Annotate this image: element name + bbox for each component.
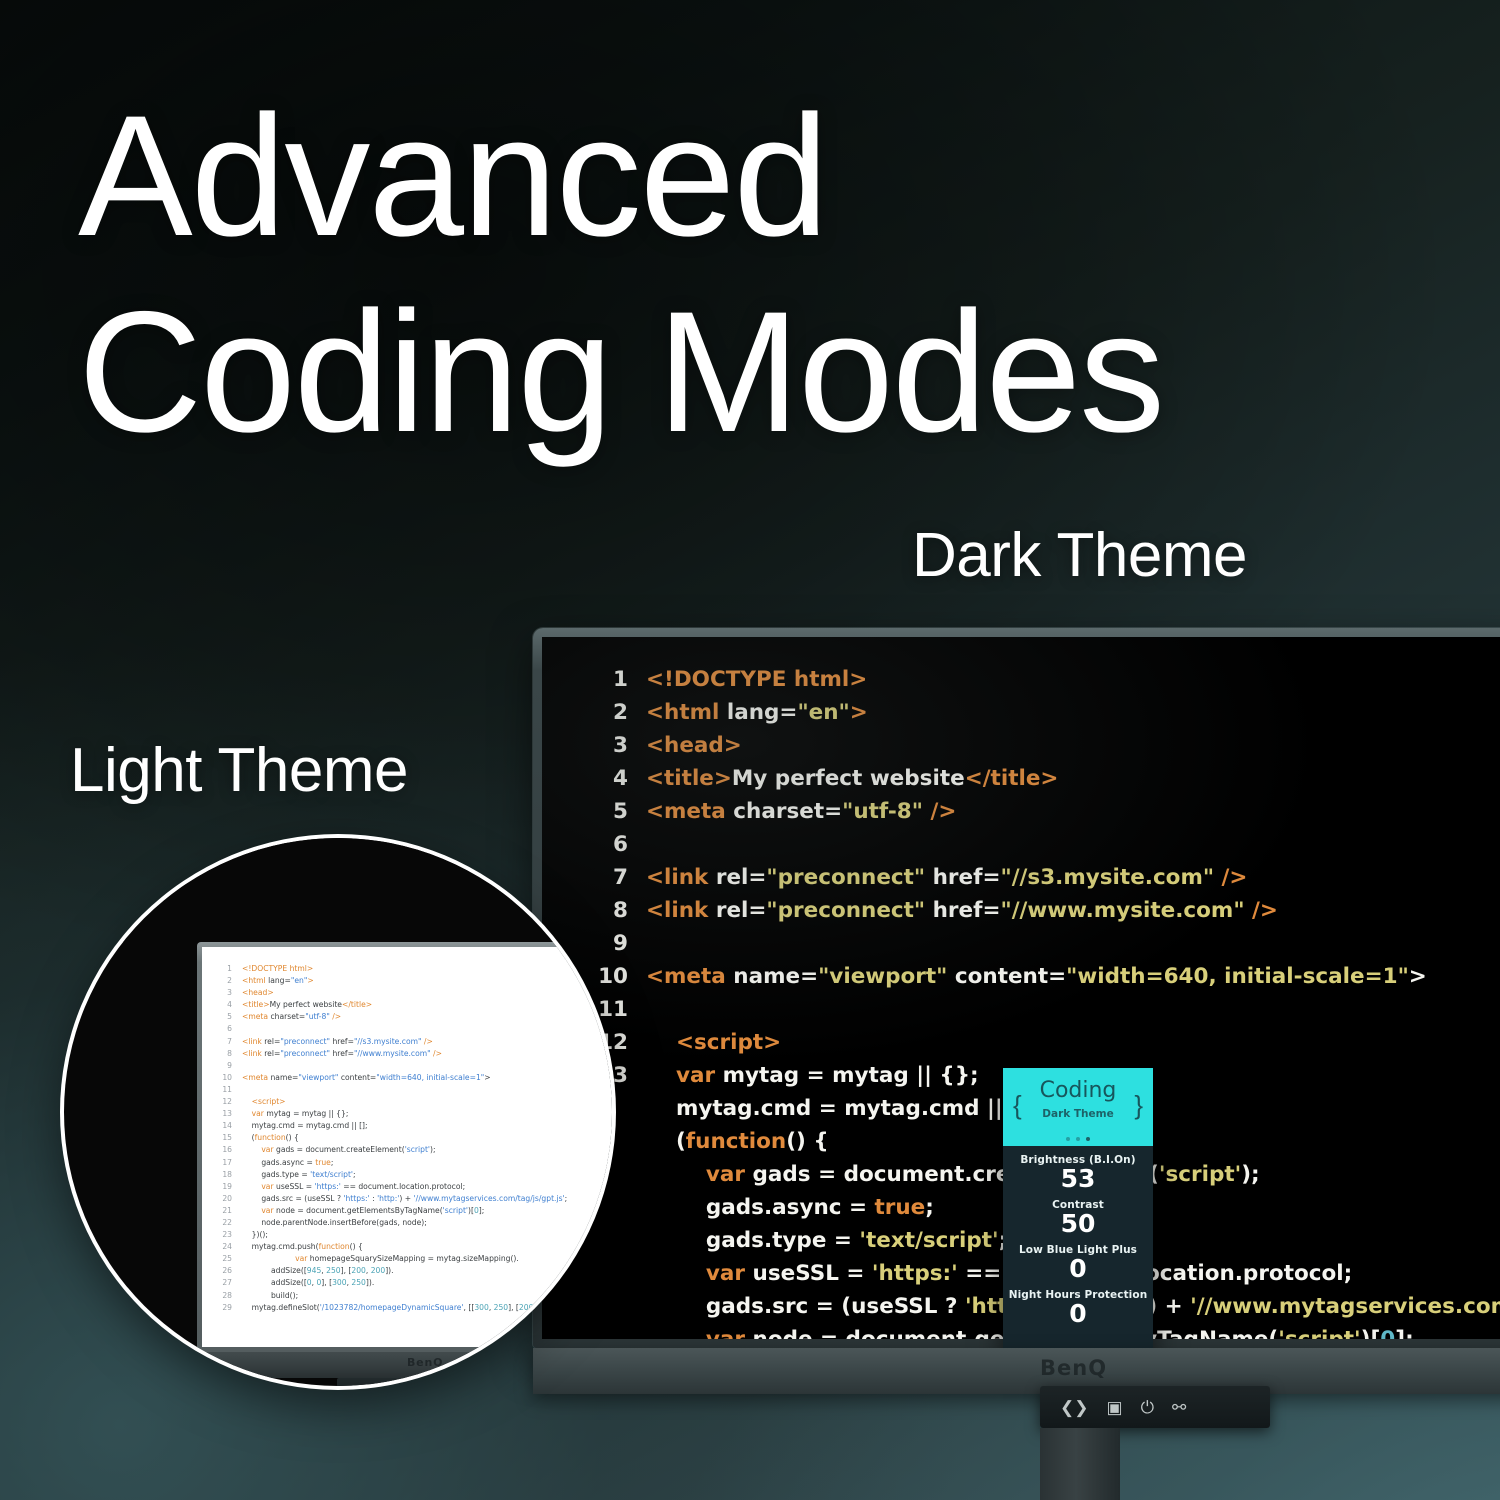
code-token: <script>: [676, 1030, 781, 1055]
code-line: 10<meta name="viewport" content="width=6…: [594, 960, 1500, 993]
code-token: "preconnect": [766, 865, 925, 890]
code-token: 'https:': [343, 1194, 369, 1203]
code-token: href=: [330, 1037, 354, 1046]
line-number: 25: [216, 1253, 232, 1265]
line-number: 16: [216, 1144, 232, 1156]
code-token: var: [261, 1206, 276, 1215]
code-token: , [[: [464, 1303, 475, 1312]
code-token: "//s3.mysite.com": [354, 1037, 422, 1046]
code-line: 18 gads.type = 'text/script';: [216, 1169, 612, 1181]
code-token: "viewport": [298, 1073, 338, 1082]
code-token: var: [676, 1063, 723, 1088]
code-token: <title>: [646, 766, 732, 791]
code-line: 10<meta name="viewport" content="width=6…: [216, 1072, 612, 1084]
line-number: 6: [216, 1023, 232, 1035]
brand-logo-light: BenQ: [407, 1356, 443, 1369]
code-token: "en": [797, 700, 849, 725]
code-token: "preconnect": [280, 1037, 330, 1046]
code-token: 300: [474, 1303, 489, 1312]
code-token: var: [706, 1327, 753, 1339]
code-token: gads.src = (useSSL ?: [706, 1294, 965, 1319]
code-token: rel=: [716, 865, 767, 890]
code-line: 3<head>: [216, 987, 612, 999]
code-token: :: [370, 1194, 377, 1203]
code-token: "preconnect": [766, 898, 925, 923]
line-number: 19: [216, 1181, 232, 1193]
code-token: addSize([: [271, 1266, 307, 1275]
code-token: function: [255, 1133, 286, 1142]
line-number: 28: [216, 1290, 232, 1302]
code-token: rel=: [264, 1037, 280, 1046]
code-token: charset=: [733, 799, 842, 824]
line-number: 12: [216, 1096, 232, 1108]
line-number: 3: [216, 987, 232, 999]
code-token: />: [1245, 898, 1278, 923]
code-token: () {: [286, 1133, 299, 1142]
code-token: '//www.mytagservices.com/tag/js/gpt.js': [1190, 1294, 1500, 1319]
monitor-screen-light: 1<!DOCTYPE html>2<html lang="en">3<head>…: [202, 947, 612, 1347]
code-token: 200: [351, 1266, 366, 1275]
code-token: 'script': [405, 1145, 430, 1154]
line-number: 15: [216, 1132, 232, 1144]
code-token: My perfect website: [270, 1000, 342, 1009]
line-number: 18: [216, 1169, 232, 1181]
line-number: 1: [594, 663, 628, 696]
code-line: 2<html lang="en">: [216, 975, 612, 987]
line-number: 7: [216, 1036, 232, 1048]
code-token: )[: [1361, 1327, 1381, 1339]
dark-theme-label: Dark Theme: [912, 520, 1247, 591]
code-line: 5<meta charset="utf-8" />: [216, 1011, 612, 1023]
code-token: />: [431, 1049, 442, 1058]
code-line: 22 node.parentNode.insertBefore(gads, no…: [216, 1217, 612, 1229]
line-number: 24: [216, 1241, 232, 1253]
code-token: () {: [786, 1129, 828, 1154]
code-token: <html: [242, 976, 268, 985]
code-token: var: [706, 1261, 753, 1286]
code-token: 200: [371, 1266, 386, 1275]
monitor-chin-dark: [533, 1348, 1500, 1394]
power-icon[interactable]: ⏻: [1141, 1399, 1154, 1416]
code-token: mytag.defineSlot(: [252, 1303, 320, 1312]
code-token: var: [295, 1254, 310, 1263]
code-token: 200: [538, 1303, 553, 1312]
code-token: var: [706, 1162, 753, 1187]
osd-title: Coding: [1003, 1078, 1153, 1103]
code-token: charset=: [270, 1012, 305, 1021]
code-token: );: [430, 1145, 436, 1154]
code-line: 16 var gads = document.createElement('sc…: [216, 1144, 612, 1156]
code-line: 9: [594, 927, 1500, 960]
line-number: 14: [216, 1120, 232, 1132]
light-theme-label: Light Theme: [70, 735, 408, 806]
code-token: ;: [353, 1170, 356, 1179]
light-theme-monitor: 1<!DOCTYPE html>2<html lang="en">3<head>…: [197, 942, 612, 1352]
osd-setting-value: 53: [1003, 1166, 1153, 1192]
code-token: <head>: [242, 988, 274, 997]
code-token: 945: [307, 1266, 322, 1275]
code-token: function: [319, 1242, 350, 1251]
code-token: build();: [271, 1291, 298, 1300]
code-token: rel=: [716, 898, 767, 923]
code-line: 28 build();: [216, 1290, 612, 1302]
line-number: 11: [216, 1084, 232, 1096]
osd-setting-value: 0: [1003, 1256, 1153, 1282]
code-line: 11: [216, 1084, 612, 1096]
code-token: />: [923, 799, 956, 824]
code-token: <html: [646, 700, 727, 725]
code-token: ];: [479, 1206, 485, 1215]
magnifier-circle: 1<!DOCTYPE html>2<html lang="en">3<head>…: [64, 838, 612, 1386]
code-token: <!DOCTYPE html>: [242, 964, 313, 973]
code-token: useSSL =: [276, 1182, 315, 1191]
code-token: ];: [1395, 1327, 1413, 1339]
code-token: ) +: [399, 1194, 413, 1203]
code-line: 8<link rel="preconnect" href="//www.mysi…: [216, 1048, 612, 1060]
code-token: ], [: [321, 1278, 332, 1287]
display-icon[interactable]: ▣: [1107, 1399, 1123, 1416]
code-token: "width=640, initial-scale=1": [376, 1073, 484, 1082]
code-token: useSSL =: [753, 1261, 872, 1286]
code-token: 'script': [443, 1206, 468, 1215]
code-token: name=: [733, 964, 818, 989]
code-line: 25 var homepageSquarySizeMapping = mytag…: [216, 1253, 612, 1265]
code-token: gads.type =: [261, 1170, 310, 1179]
code-token: "//www.mysite.com": [1001, 898, 1245, 923]
user-icon[interactable]: ⚯: [1172, 1399, 1186, 1416]
code-token: lang=: [268, 976, 291, 985]
code-token: true: [315, 1158, 331, 1167]
control-bar-dark[interactable]: ❮❯ ▣ ⏻ ⚯: [1040, 1386, 1270, 1428]
code-token: () {: [350, 1242, 363, 1251]
code-line: 8<link rel="preconnect" href="//www.mysi…: [594, 894, 1500, 927]
code-line: 7<link rel="preconnect" href="//s3.mysit…: [594, 861, 1500, 894]
code-token: "//www.mysite.com": [354, 1049, 431, 1058]
line-number: 27: [216, 1277, 232, 1289]
brand-logo-dark: BenQ: [1040, 1356, 1107, 1380]
code-token: '//www.mytagservices.com/tag/js/gpt.js': [414, 1194, 565, 1203]
code-line: 26 addSize([945, 250], [200, 200]).: [216, 1265, 612, 1277]
code-token: 250: [494, 1303, 509, 1312]
code-line: 27 addSize([0, 0], [300, 250]).: [216, 1277, 612, 1289]
code-token: "preconnect": [280, 1049, 330, 1058]
osd-page-dots[interactable]: [1003, 1128, 1153, 1146]
code-token: />: [330, 1012, 341, 1021]
osd-header: { } Coding Dark Theme: [1003, 1068, 1153, 1146]
code-token: ]).: [385, 1266, 393, 1275]
code-token: 200: [519, 1303, 534, 1312]
osd-settings-list: Brightness (B.I.On)53Contrast50Low Blue …: [1003, 1146, 1153, 1353]
code-token: gads.type =: [706, 1228, 860, 1253]
code-token: ]],: [553, 1303, 564, 1312]
line-number: 9: [216, 1060, 232, 1072]
code-token: "en": [291, 976, 307, 985]
code-token: mytag.cmd = mytag.cmd || [];: [676, 1096, 1039, 1121]
code-token: <head>: [646, 733, 742, 758]
line-number: 5: [594, 795, 628, 828]
code-token: />: [1214, 865, 1247, 890]
code-token: addSize([: [271, 1278, 307, 1287]
line-number: 10: [216, 1072, 232, 1084]
code-line: 24 mytag.cmd.push(function() {: [216, 1241, 612, 1253]
code-token: );: [1241, 1162, 1259, 1187]
line-number: 3: [594, 729, 628, 762]
code-token: "utf-8": [842, 799, 923, 824]
code-token: <title>: [242, 1000, 270, 1009]
code-token: node = document.getElementsByTagName(: [276, 1206, 443, 1215]
code-editor-light: 1<!DOCTYPE html>2<html lang="en">3<head>…: [216, 963, 612, 1314]
code-token: <meta: [646, 964, 733, 989]
code-token: <script>: [252, 1097, 286, 1106]
code-token: 'text/script': [310, 1170, 353, 1179]
code-line: 5<meta charset="utf-8" />: [594, 795, 1500, 828]
code-token: 250: [326, 1266, 341, 1275]
code-token: == document.location.protocol;: [341, 1182, 465, 1191]
code-line: 4<title>My perfect website</title>: [216, 999, 612, 1011]
line-number: 2: [594, 696, 628, 729]
code-token: function: [686, 1129, 786, 1154]
line-number: 4: [216, 999, 232, 1011]
code-token: ], [: [341, 1266, 352, 1275]
code-token: gads.async =: [261, 1158, 315, 1167]
code-token: 'https:': [315, 1182, 341, 1191]
code-line: 2<html lang="en">: [594, 696, 1500, 729]
code-line: 6: [594, 828, 1500, 861]
osd-setting-value: 50: [1003, 1211, 1153, 1237]
code-token: <meta: [242, 1012, 270, 1021]
code-token: var: [261, 1145, 276, 1154]
code-token: (: [676, 1129, 686, 1154]
code-token: 'script': [1159, 1162, 1241, 1187]
page-title: Advanced Coding Modes: [78, 78, 1378, 470]
code-token: gads.async =: [706, 1195, 875, 1220]
osd-setting-item[interactable]: Night Hours Protection0: [1003, 1289, 1153, 1327]
code-token: >: [850, 700, 868, 725]
code-token: lang=: [727, 700, 798, 725]
code-token: mytag = mytag || {};: [266, 1109, 348, 1118]
code-token: <meta: [242, 1073, 270, 1082]
code-token: 'reserved-div-1': [564, 1303, 613, 1312]
code-line: 11: [594, 993, 1500, 1026]
osd-subtitle: Dark Theme: [1003, 1108, 1153, 1120]
line-number: 13: [216, 1108, 232, 1120]
code-token: ;: [331, 1158, 334, 1167]
code-token: var: [261, 1182, 276, 1191]
code-line: 19 var useSSL = 'https:' == document.loc…: [216, 1181, 612, 1193]
code-token: "//s3.mysite.com": [1001, 865, 1215, 890]
monitor-stand-neck-dark: [1040, 1428, 1120, 1500]
page-dot[interactable]: [1076, 1137, 1080, 1141]
line-number: 29: [216, 1302, 232, 1314]
code-token: true: [875, 1195, 926, 1220]
osd-setting-item[interactable]: Contrast50: [1003, 1199, 1153, 1237]
code-token: node.parentNode.insertBefore(gads, node)…: [261, 1218, 426, 1227]
code-token: <link: [646, 865, 716, 890]
code-token: "utf-8": [305, 1012, 330, 1021]
monitor-chin-light: [197, 1352, 612, 1378]
code-line: 14 mytag.cmd = mytag.cmd || [];: [216, 1120, 612, 1132]
code-token: homepageSquarySizeMapping = mytag.sizeMa…: [310, 1254, 519, 1263]
code-line: 13 var mytag = mytag || {};: [216, 1108, 612, 1120]
code-line: 29 mytag.defineSlot('/1023782/homepageDy…: [216, 1302, 612, 1314]
code-token: href=: [925, 865, 1000, 890]
code-token: <link: [242, 1049, 264, 1058]
line-number: 23: [216, 1229, 232, 1241]
code-line: 1<!DOCTYPE html>: [216, 963, 612, 975]
code-token: content=: [947, 964, 1066, 989]
code-token: '/1023782/homepageDynamicSquare': [320, 1303, 464, 1312]
code-token: <meta: [646, 799, 733, 824]
code-line: 9: [216, 1060, 612, 1072]
control-bar-light[interactable]: ❮❯ ▣ ⏻ ⚯: [337, 1378, 551, 1386]
code-line: 20 gads.src = (useSSL ? 'https:' : 'http…: [216, 1193, 612, 1205]
code-line: 12 <script>: [594, 1026, 1500, 1059]
code-token: mytag = mytag || {};: [723, 1063, 979, 1088]
code-line: 21 var node = document.getElementsByTagN…: [216, 1205, 612, 1217]
code-line: 4<title>My perfect website</title>: [594, 762, 1500, 795]
code-line: 15 (function() {: [216, 1132, 612, 1144]
code-token: href=: [330, 1049, 354, 1058]
code-line: 1<!DOCTYPE html>: [594, 663, 1500, 696]
code-token: >: [307, 976, 313, 985]
code-token: </title>: [965, 766, 1059, 791]
line-number: 5: [216, 1011, 232, 1023]
code-token: gads.src = (useSSL ?: [261, 1194, 343, 1203]
code-token: "viewport": [818, 964, 947, 989]
code-token: <link: [646, 898, 716, 923]
code-token: rel=: [264, 1049, 280, 1058]
code-token: 'https:': [872, 1261, 958, 1286]
osd-panel[interactable]: { } Coding Dark Theme Brightness (B.I.On…: [1003, 1068, 1153, 1353]
osd-setting-item[interactable]: Brightness (B.I.On)53: [1003, 1154, 1153, 1192]
code-token: 250: [351, 1278, 366, 1287]
code-token: mytag.cmd.push(: [252, 1242, 319, 1251]
code-token: >: [484, 1073, 490, 1082]
code-line: 7<link rel="preconnect" href="//s3.mysit…: [216, 1036, 612, 1048]
code-icon[interactable]: ❮❯: [1060, 1399, 1089, 1416]
code-line: 3<head>: [594, 729, 1500, 762]
code-token: My perfect website: [732, 766, 965, 791]
code-token: 300: [332, 1278, 347, 1287]
code-line: 17 gads.async = true;: [216, 1157, 612, 1169]
code-token: <!DOCTYPE html>: [646, 667, 867, 692]
code-line: 12 <script>: [216, 1096, 612, 1108]
code-token: />: [421, 1037, 432, 1046]
code-token: gads = document.createElement(: [276, 1145, 405, 1154]
code-token: href=: [925, 898, 1000, 923]
code-token: 'http:': [377, 1194, 399, 1203]
page-dot-active[interactable]: [1086, 1137, 1090, 1141]
line-number: 8: [216, 1048, 232, 1060]
osd-setting-item[interactable]: Low Blue Light Plus0: [1003, 1244, 1153, 1282]
osd-setting-value: 0: [1003, 1301, 1153, 1327]
code-token: 'text/script': [859, 1228, 998, 1253]
line-number: 21: [216, 1205, 232, 1217]
code-token: ) +: [1147, 1294, 1190, 1319]
code-token: </title>: [342, 1000, 372, 1009]
magnifier-dark-fill: [64, 838, 612, 942]
code-token: mytag.cmd = mytag.cmd || [];: [252, 1121, 368, 1130]
promo-canvas: Advanced Coding Modes Dark Theme Light T…: [0, 0, 1500, 1500]
code-token: 'script': [1278, 1327, 1360, 1339]
line-number: 20: [216, 1193, 232, 1205]
code-line: 6: [216, 1023, 612, 1035]
line-number: 26: [216, 1265, 232, 1277]
code-token: ]).: [366, 1278, 374, 1287]
magnifier-content: 1<!DOCTYPE html>2<html lang="en">3<head>…: [64, 838, 612, 1386]
line-number: 22: [216, 1217, 232, 1229]
code-token: >: [1409, 964, 1427, 989]
line-number: 2: [216, 975, 232, 987]
code-token: name=: [270, 1073, 298, 1082]
page-dot[interactable]: [1066, 1137, 1070, 1141]
code-token: ;: [925, 1195, 934, 1220]
line-number: 1: [216, 963, 232, 975]
line-number: 17: [216, 1157, 232, 1169]
code-token: content=: [338, 1073, 376, 1082]
code-token: })();: [252, 1230, 268, 1239]
code-token: ;: [565, 1194, 568, 1203]
code-token: var: [252, 1109, 267, 1118]
code-token: "width=640, initial-scale=1": [1066, 964, 1409, 989]
code-token: <link: [242, 1037, 264, 1046]
code-token: 0: [1380, 1327, 1395, 1339]
code-token: ], [: [508, 1303, 519, 1312]
line-number: 4: [594, 762, 628, 795]
code-line: 23 })();: [216, 1229, 612, 1241]
